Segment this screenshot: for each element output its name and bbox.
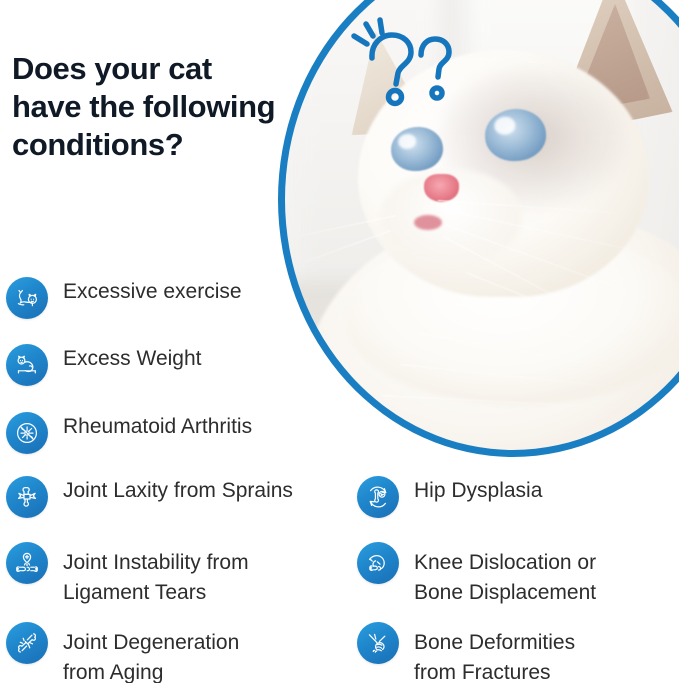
list-item-label: Joint Degeneration from Aging — [63, 628, 239, 683]
torn-ligament-icon — [6, 542, 48, 584]
list-item-label: Joint Laxity from Sprains — [63, 476, 293, 506]
degenerating-bone-icon — [6, 622, 48, 664]
list-item-label: Hip Dysplasia — [414, 476, 542, 506]
list-item-label: Rheumatoid Arthritis — [63, 412, 252, 442]
list-item: Knee Dislocation or Bone Displacement — [357, 542, 596, 608]
list-item: Joint Degeneration from Aging — [6, 622, 239, 683]
hip-bone-icon — [357, 476, 399, 518]
dislocated-knee-icon — [357, 542, 399, 584]
cat-photo — [278, 0, 679, 457]
list-item-label: Excess Weight — [63, 344, 202, 374]
infographic-card: Does your cat have the following conditi… — [0, 0, 679, 683]
list-item: Bone Deformities from Fractures — [357, 622, 575, 683]
list-item: Joint Laxity from Sprains — [6, 476, 293, 518]
list-item-label: Joint Instability from Ligament Tears — [63, 548, 249, 608]
cat-stretching-icon — [6, 277, 48, 319]
list-item: Excess Weight — [6, 344, 202, 386]
list-item-label: Excessive exercise — [63, 277, 242, 307]
list-item: Joint Instability from Ligament Tears — [6, 542, 249, 608]
double-question-mark-icon — [342, 14, 462, 114]
loose-joint-icon — [6, 476, 48, 518]
fractured-bone-icon — [357, 622, 399, 664]
list-item: Excessive exercise — [6, 277, 242, 319]
list-item-label: Bone Deformities from Fractures — [414, 628, 575, 683]
cat-on-scale-icon — [6, 344, 48, 386]
page-title: Does your cat have the following conditi… — [12, 50, 282, 164]
list-item-label: Knee Dislocation or Bone Displacement — [414, 548, 596, 608]
list-item: Rheumatoid Arthritis — [6, 412, 252, 454]
inflamed-joint-icon — [6, 412, 48, 454]
list-item: Hip Dysplasia — [357, 476, 542, 518]
